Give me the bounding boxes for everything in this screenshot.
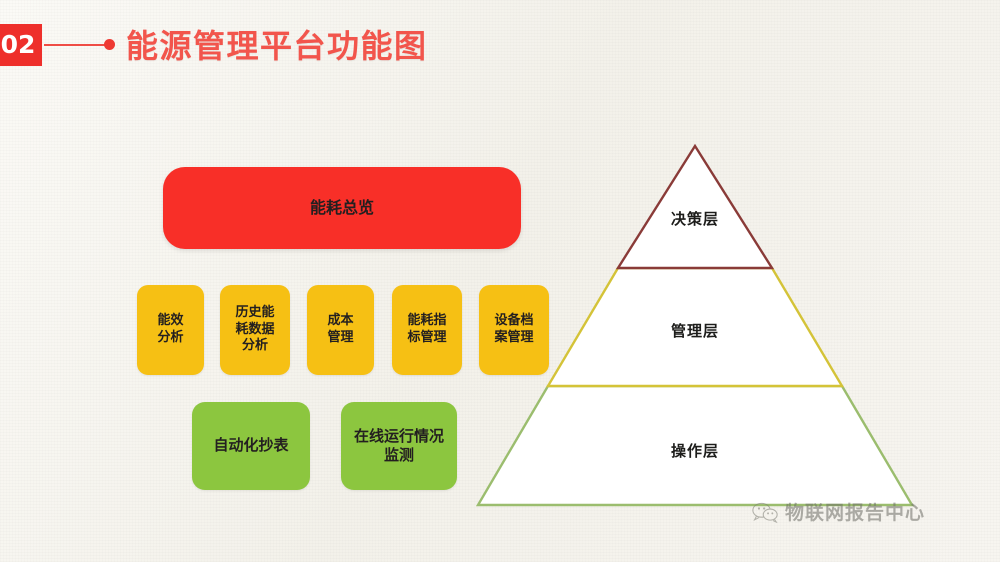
label-line-2: 耗数据 <box>230 322 279 339</box>
slide-header: 02 能源管理平台功能图 <box>0 0 1000 92</box>
function-box-label: 成本管理 <box>317 313 363 347</box>
function-box-label: 历史能耗数据分析 <box>225 305 284 356</box>
label-line-1: 能耗指 <box>402 313 451 330</box>
function-box-historical-energy-data-analysis[interactable]: 历史能耗数据分析 <box>220 285 290 375</box>
function-box-overview-label: 能耗总览 <box>305 198 379 219</box>
badge-connector-line <box>44 44 108 46</box>
wechat-icon <box>752 501 778 523</box>
function-box-energy-efficiency-analysis[interactable]: 能效分析 <box>137 285 204 375</box>
label-line-3: 分析 <box>230 338 279 355</box>
label-line-1: 在线运行情况 <box>349 427 449 447</box>
function-box-automated-meter-reading[interactable]: 自动化抄表 <box>192 402 310 490</box>
label-line-1: 能效 <box>152 313 188 330</box>
section-number-badge: 02 <box>0 24 42 66</box>
pyramid-label-bottom: 操作层 <box>671 440 719 461</box>
function-box-label: 自动化抄表 <box>203 436 298 456</box>
watermark-text: 物联网报告中心 <box>785 498 925 525</box>
page-title: 能源管理平台功能图 <box>126 21 428 67</box>
function-box-label: 在线运行情况监测 <box>344 427 454 466</box>
pyramid-diagram: 决策层 管理层 操作层 <box>455 130 935 520</box>
label-line-2: 分析 <box>152 330 188 347</box>
label-line-1: 成本 <box>322 313 358 330</box>
function-box-online-operation-monitoring[interactable]: 在线运行情况监测 <box>341 402 457 490</box>
function-box-label: 能耗指标管理 <box>397 313 456 347</box>
label-line-2: 管理 <box>322 330 358 347</box>
label-line-2: 标管理 <box>402 330 451 347</box>
label-line-1: 历史能 <box>230 305 279 322</box>
label-line-2: 监测 <box>349 446 449 466</box>
badge-connector-dot <box>104 39 115 50</box>
pyramid-label-middle: 管理层 <box>671 320 719 341</box>
function-box-energy-indicator-management[interactable]: 能耗指标管理 <box>392 285 462 375</box>
watermark: 物联网报告中心 <box>752 498 925 525</box>
slide-canvas: 02 能源管理平台功能图 能耗总览 能效分析 历史能耗数据分析 成本管理 能耗指… <box>0 0 1000 562</box>
function-box-label: 能效分析 <box>147 313 193 347</box>
function-box-cost-management[interactable]: 成本管理 <box>307 285 374 375</box>
pyramid-layer-top[interactable] <box>618 146 772 268</box>
label-line-1: 自动化抄表 <box>208 436 293 456</box>
pyramid-label-top: 决策层 <box>671 208 719 229</box>
